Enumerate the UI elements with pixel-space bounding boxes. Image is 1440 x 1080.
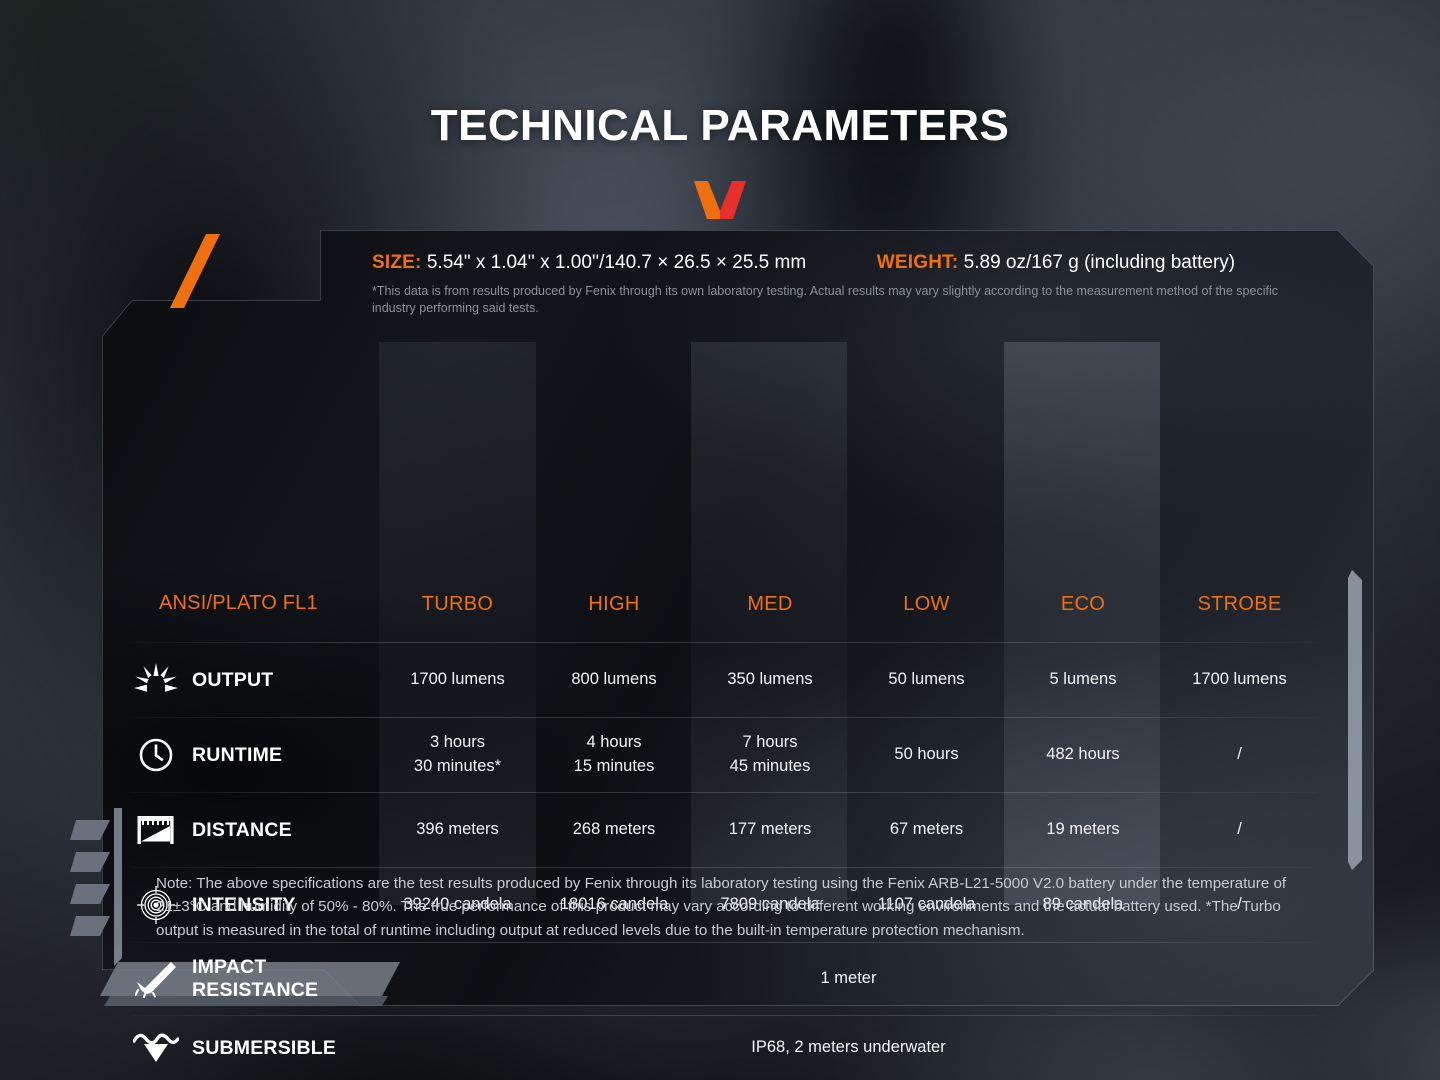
cell-impact-resistance-value: 1 meter [379,967,1318,991]
cell-distance-med: 177 meters [692,818,848,842]
table-row-impact-resistance: IMPACT RESISTANCE 1 meter [130,943,1318,1015]
hammer-impact-icon [133,958,179,1000]
footnote-text: Note: The above specifications are the t… [156,872,1318,942]
cell-submersible-value: IP68, 2 meters underwater [379,1036,1318,1060]
cell-output-high: 800 lumens [536,668,692,692]
row-label-distance: DISTANCE [130,809,379,851]
header-cell-med: MED [692,590,848,619]
header-cell-turbo: TURBO [379,590,536,619]
header-cell-low: LOW [848,590,1005,619]
cell-distance-low: 67 meters [848,818,1005,842]
cell-runtime-strobe: / [1161,743,1318,767]
clock-icon [133,734,179,776]
row-label-output: OUTPUT [130,659,379,701]
header-cell-high: HIGH [536,590,692,619]
cell-distance-turbo: 396 meters [379,818,536,842]
header-cell-eco: ECO [1005,590,1161,619]
cell-output-eco: 5 lumens [1005,668,1161,692]
cell-output-strobe: 1700 lumens [1161,668,1318,692]
table-header-row: ANSI/PLATO FL1 TURBO HIGH MED LOW ECO ST… [130,574,1318,634]
cell-runtime-med: 7 hours 45 minutes [692,731,848,779]
header-cell-ansi: ANSI/PLATO FL1 [130,592,379,616]
table-row-submersible: SUBMERSIBLE IP68, 2 meters underwater [130,1016,1318,1080]
header-cell-strobe: STROBE [1161,590,1318,619]
cell-distance-high: 268 meters [536,818,692,842]
cell-distance-eco: 19 meters [1005,818,1161,842]
row-label-text: SUBMERSIBLE [192,1037,336,1060]
row-label-submersible: SUBMERSIBLE [130,1027,379,1069]
row-label-impact-resistance: IMPACT RESISTANCE [130,956,379,1002]
row-label-runtime: RUNTIME [130,734,379,776]
row-label-text: RUNTIME [192,744,282,767]
cell-runtime-low: 50 hours [848,743,1005,767]
chevron-down-icon [694,181,746,219]
cell-output-low: 50 lumens [848,668,1005,692]
table-row-distance: DISTANCE 396 meters 268 meters 177 meter… [130,793,1318,867]
cell-runtime-turbo: 3 hours 30 minutes* [379,731,536,779]
sunburst-icon [133,659,179,701]
row-label-text: DISTANCE [192,819,292,842]
page-title: TECHNICAL PARAMETERS [0,101,1440,151]
table-row-runtime: RUNTIME 3 hours 30 minutes* 4 hours 15 m… [130,718,1318,792]
cell-runtime-high: 4 hours 15 minutes [536,731,692,779]
row-label-text: IMPACT RESISTANCE [192,956,318,1002]
table-row-output: OUTPUT 1700 lumens 800 lumens 350 lumens… [130,643,1318,717]
water-waves-icon [133,1027,179,1069]
row-label-text: OUTPUT [192,669,273,692]
cell-output-med: 350 lumens [692,668,848,692]
cell-distance-strobe: / [1161,818,1318,842]
cell-output-turbo: 1700 lumens [379,668,536,692]
ruler-beam-icon [133,809,179,851]
cell-runtime-eco: 482 hours [1005,743,1161,767]
